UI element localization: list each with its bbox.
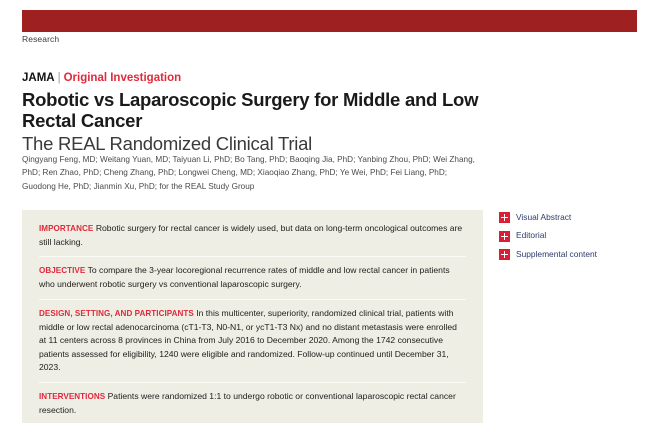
rail-item-supplemental-content[interactable]: Supplemental content bbox=[499, 249, 644, 260]
abstract-section-text: Robotic surgery for rectal cancer is wid… bbox=[39, 223, 462, 247]
abstract-section-label: IMPORTANCE bbox=[39, 224, 93, 233]
section-kicker: Research bbox=[22, 34, 59, 44]
rail-item-label: Supplemental content bbox=[516, 250, 597, 259]
related-content-rail: Visual Abstract Editorial Supplemental c… bbox=[499, 212, 644, 268]
journal-name: JAMA bbox=[22, 72, 55, 84]
rail-item-visual-abstract[interactable]: Visual Abstract bbox=[499, 212, 644, 223]
abstract-section-objective: OBJECTIVE To compare the 3-year locoregi… bbox=[39, 264, 466, 299]
rail-item-label: Visual Abstract bbox=[516, 213, 571, 222]
abstract-section-label: DESIGN, SETTING, AND PARTICIPANTS bbox=[39, 309, 194, 318]
plus-icon bbox=[499, 231, 510, 242]
abstract-section-interventions: INTERVENTIONS Patients were randomized 1… bbox=[39, 390, 466, 424]
plus-icon bbox=[499, 212, 510, 223]
author-list: Qingyang Feng, MD; Weitang Yuan, MD; Tai… bbox=[22, 153, 480, 193]
masthead-separator: | bbox=[55, 72, 64, 84]
abstract-section-importance: IMPORTANCERobotic surgery for rectal can… bbox=[39, 222, 466, 257]
abstract-section-text: To compare the 3-year locoregional recur… bbox=[39, 265, 450, 289]
page-title: Robotic vs Laparoscopic Surgery for Midd… bbox=[22, 89, 492, 132]
article-type-label[interactable]: Original Investigation bbox=[64, 72, 182, 84]
rail-item-editorial[interactable]: Editorial bbox=[499, 231, 644, 242]
abstract-panel: IMPORTANCERobotic surgery for rectal can… bbox=[22, 210, 483, 423]
rail-item-label: Editorial bbox=[516, 231, 546, 240]
abstract-section-label: OBJECTIVE bbox=[39, 266, 85, 275]
title-block: Robotic vs Laparoscopic Surgery for Midd… bbox=[22, 89, 492, 154]
plus-icon bbox=[499, 249, 510, 260]
abstract-section-design: DESIGN, SETTING, AND PARTICIPANTS In thi… bbox=[39, 307, 466, 383]
header-accent-bar bbox=[22, 10, 637, 32]
abstract-section-label: INTERVENTIONS bbox=[39, 392, 105, 401]
masthead: JAMA|Original Investigation bbox=[22, 73, 181, 85]
page-subtitle: The REAL Randomized Clinical Trial bbox=[22, 133, 492, 154]
